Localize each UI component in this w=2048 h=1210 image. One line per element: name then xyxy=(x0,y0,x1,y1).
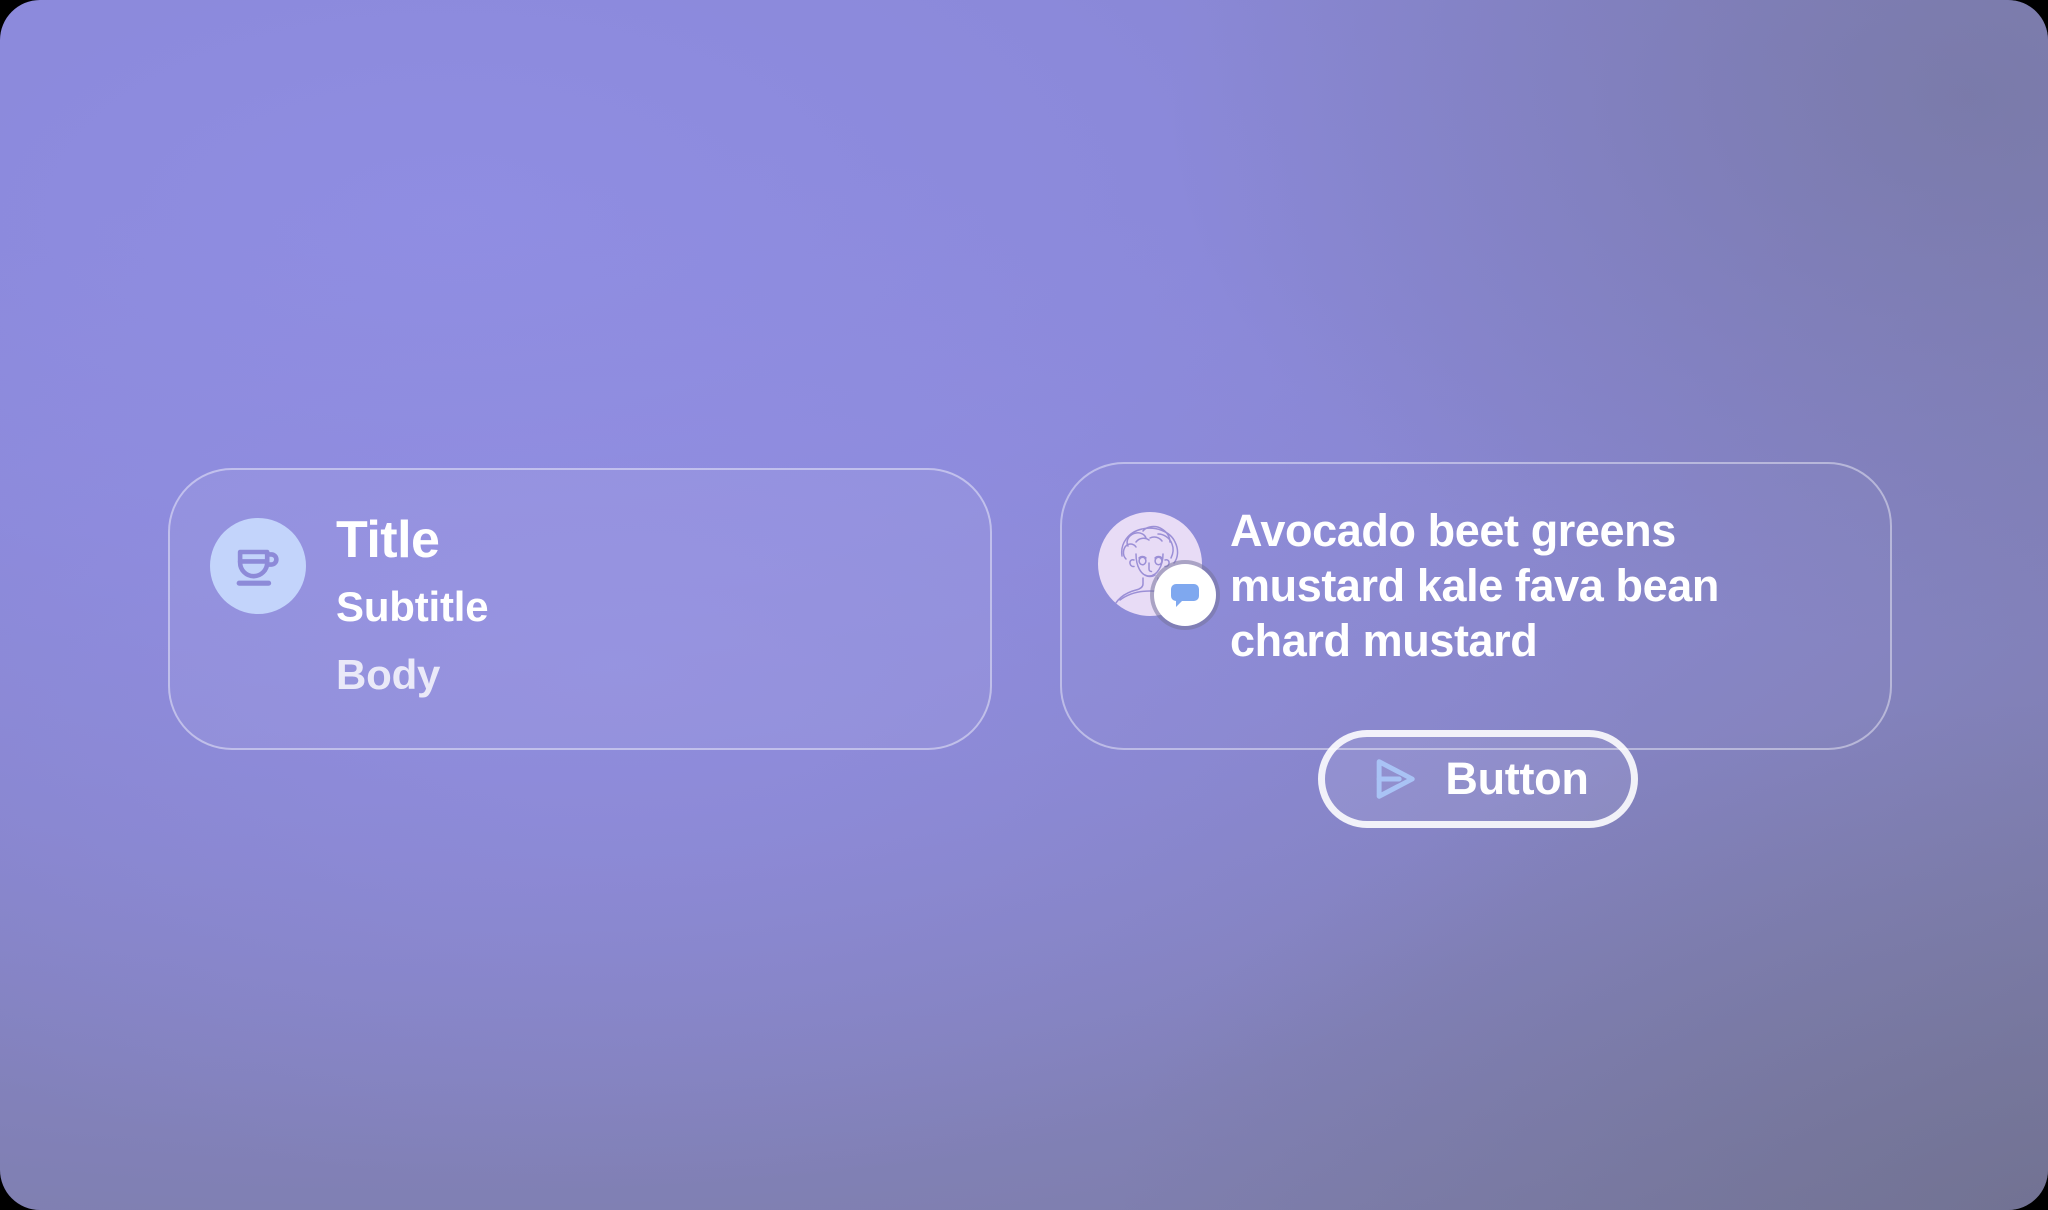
coffee-cup-icon-circle xyxy=(210,518,306,614)
card-body: Body xyxy=(336,652,488,698)
coffee-cup-icon xyxy=(229,537,287,595)
card-subtitle: Subtitle xyxy=(336,584,488,630)
screen-canvas: Title Subtitle Body xyxy=(0,0,2048,1210)
chat-bubble-badge xyxy=(1154,564,1216,626)
card-title: Title xyxy=(336,514,488,567)
message-text: Avocado beet greens mustard kale fava be… xyxy=(1230,504,1850,669)
info-card-text-column: Title Subtitle Body xyxy=(336,514,488,698)
info-card[interactable]: Title Subtitle Body xyxy=(168,468,992,750)
send-triangle-icon xyxy=(1367,751,1423,807)
send-button[interactable]: Button xyxy=(1318,730,1638,828)
chat-bubble-icon xyxy=(1165,575,1205,615)
send-button-label: Button xyxy=(1445,753,1588,805)
message-card[interactable]: Avocado beet greens mustard kale fava be… xyxy=(1060,462,1892,750)
avatar xyxy=(1098,512,1202,616)
